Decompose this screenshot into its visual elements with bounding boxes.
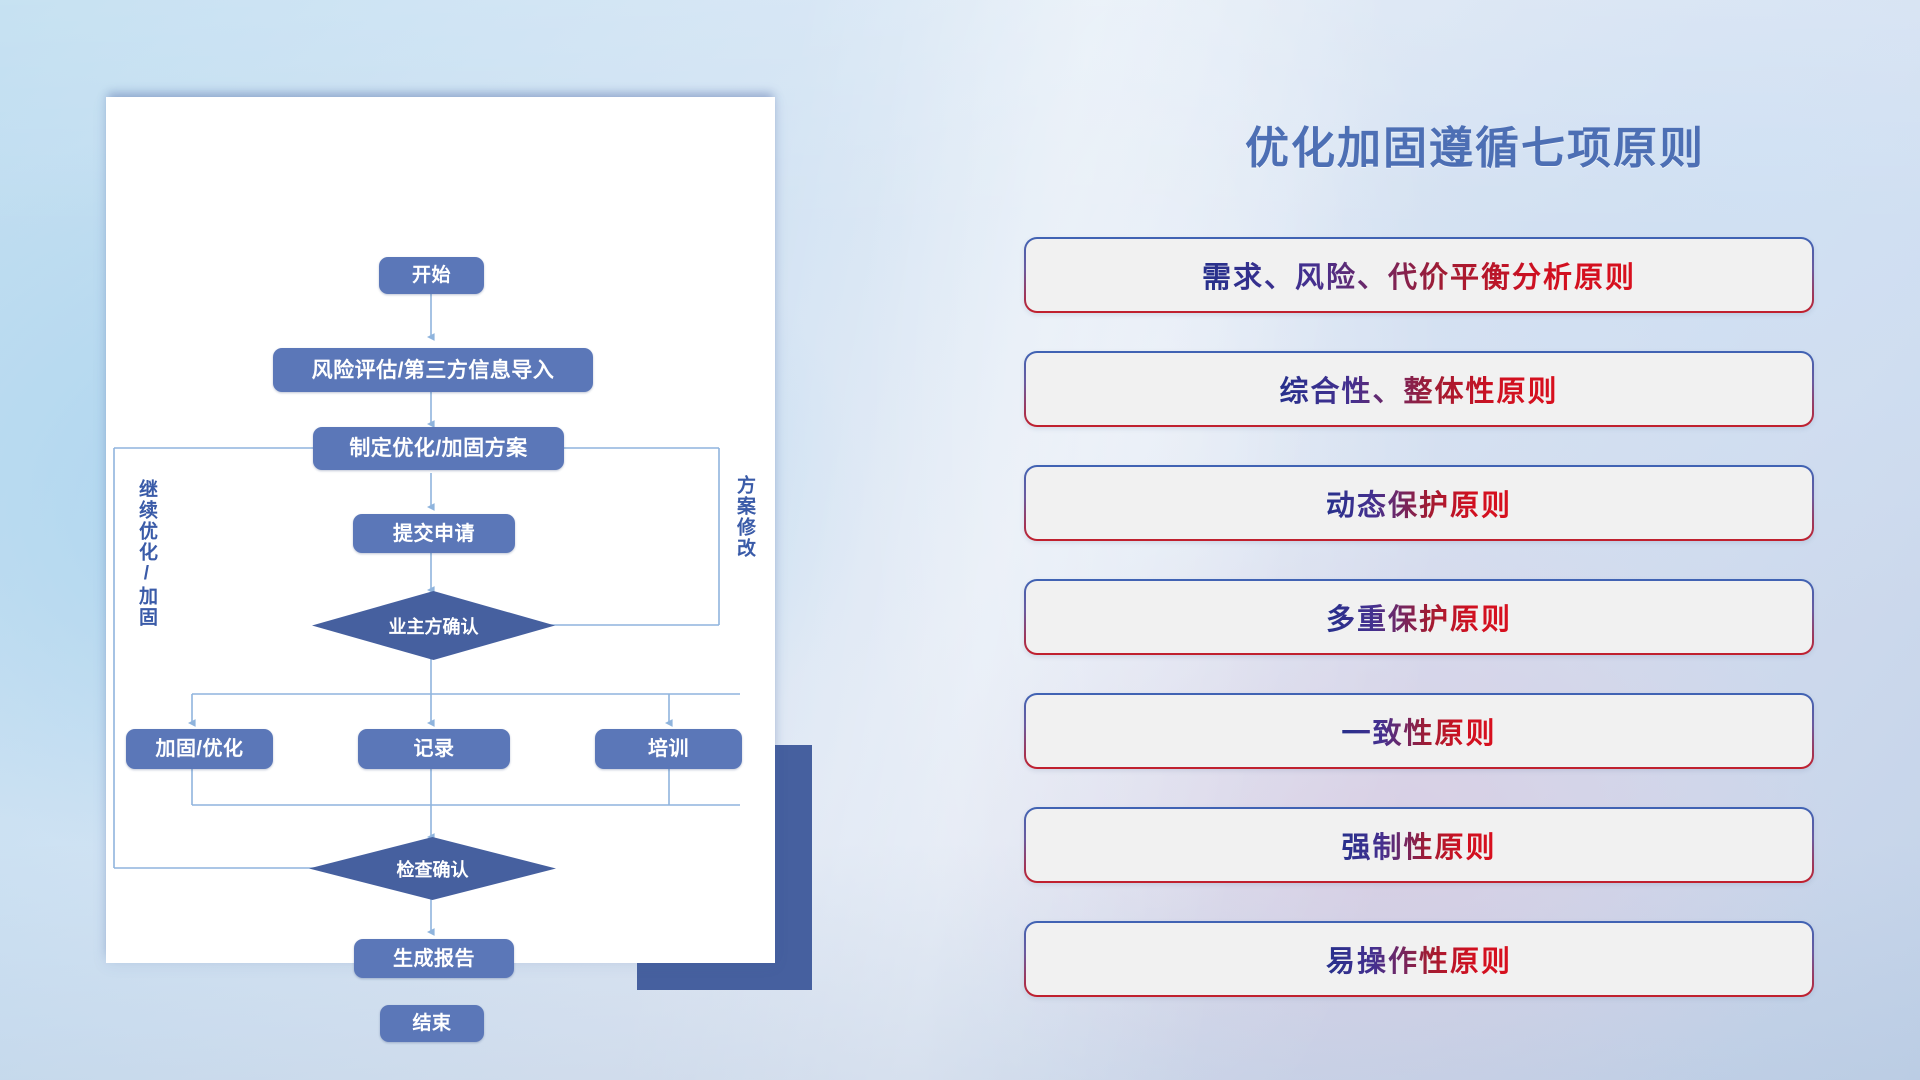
panel-title: 优化加固遵循七项原则 xyxy=(1155,112,1795,176)
principle-item[interactable]: 综合性、整体性原则 xyxy=(1024,351,1814,427)
flowchart-card: 开始 风险评估/第三方信息导入 制定优化/加固方案 提交申请 业主方确认 加固/… xyxy=(106,97,775,963)
flow-node-label: 记录 xyxy=(414,739,455,759)
principle-item[interactable]: 易操作性原则 xyxy=(1024,921,1814,997)
principle-label: 动态保护原则 xyxy=(1326,482,1512,524)
slide-canvas: 开始 风险评估/第三方信息导入 制定优化/加固方案 提交申请 业主方确认 加固/… xyxy=(0,0,1920,1080)
principle-label: 易操作性原则 xyxy=(1326,938,1512,980)
flow-node-submit[interactable]: 提交申请 xyxy=(353,514,515,553)
flow-node-label: 开始 xyxy=(412,266,451,285)
flow-node-label: 生成报告 xyxy=(393,949,475,969)
principle-item[interactable]: 强制性原则 xyxy=(1024,807,1814,883)
flow-node-plan[interactable]: 制定优化/加固方案 xyxy=(313,427,564,470)
flow-node-risk-assessment[interactable]: 风险评估/第三方信息导入 xyxy=(273,348,593,392)
flow-edge-label-continue-optimize: 继续优化/加固 xyxy=(136,479,156,628)
flow-node-record[interactable]: 记录 xyxy=(358,729,510,769)
flowchart-canvas: 开始 风险评估/第三方信息导入 制定优化/加固方案 提交申请 业主方确认 加固/… xyxy=(106,97,775,963)
flow-node-label: 加固/优化 xyxy=(155,739,243,759)
flow-node-label: 提交申请 xyxy=(393,524,475,544)
principles-list: 需求、风险、代价平衡分析原则 综合性、整体性原则 动态保护原则 多重保护原则 一… xyxy=(1024,237,1814,1035)
flow-decision-label: 业主方确认 xyxy=(389,613,479,639)
flow-node-label: 结束 xyxy=(412,1014,451,1033)
flow-node-label: 制定优化/加固方案 xyxy=(349,438,527,459)
principle-item[interactable]: 多重保护原则 xyxy=(1024,579,1814,655)
flow-edge-label-plan-revision: 方案修改 xyxy=(734,475,754,559)
flow-decision-label: 检查确认 xyxy=(397,856,469,882)
flow-node-label: 培训 xyxy=(648,739,689,759)
principle-label: 综合性、整体性原则 xyxy=(1279,368,1558,410)
principle-item[interactable]: 需求、风险、代价平衡分析原则 xyxy=(1024,237,1814,313)
principle-label: 强制性原则 xyxy=(1341,824,1496,866)
flow-node-reinforce[interactable]: 加固/优化 xyxy=(126,729,273,769)
principle-label: 多重保护原则 xyxy=(1326,596,1512,638)
principle-item[interactable]: 一致性原则 xyxy=(1024,693,1814,769)
flow-node-training[interactable]: 培训 xyxy=(595,729,742,769)
flow-node-end[interactable]: 结束 xyxy=(380,1005,484,1042)
principle-item[interactable]: 动态保护原则 xyxy=(1024,465,1814,541)
principle-label: 需求、风险、代价平衡分析原则 xyxy=(1202,254,1636,296)
flow-node-start[interactable]: 开始 xyxy=(379,257,484,294)
flow-node-label: 风险评估/第三方信息导入 xyxy=(312,360,555,381)
principle-label: 一致性原则 xyxy=(1341,710,1496,752)
flow-node-report[interactable]: 生成报告 xyxy=(354,939,514,978)
